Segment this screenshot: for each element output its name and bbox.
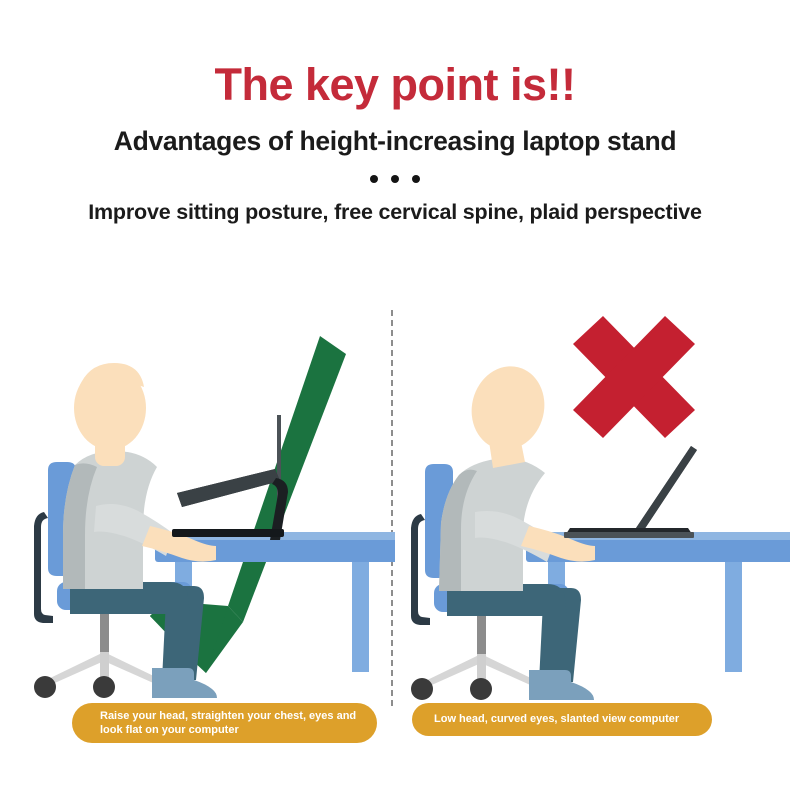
caption-correct-line2: look flat on your computer [100,723,356,737]
comparison-panel-incorrect [395,300,790,720]
chair-wheel-icon [93,676,115,698]
chair-wheel-icon [34,676,56,698]
caption-incorrect-line1: Low head, curved eyes, slanted view comp… [434,712,679,726]
bad-posture-illustration [395,300,790,720]
caption-correct: Raise your head, straighten your chest, … [72,703,377,743]
infographic-root: The key point is!! Advantages of height-… [0,0,790,788]
laptop-stand-base [172,529,284,537]
caption-correct-line1: Raise your head, straighten your chest, … [100,709,356,723]
separator-dot-icon [370,175,378,183]
page-subtitle: Advantages of height-increasing laptop s… [0,128,790,155]
separator-dot-icon [412,175,420,183]
comparison-panel-correct [0,300,395,720]
page-title: The key point is!! [0,62,790,107]
laptop-flat [564,446,697,538]
caption-incorrect: Low head, curved eyes, slanted view comp… [412,703,712,736]
separator-dot-icon [391,175,399,183]
dot-separator [0,172,790,186]
page-tagline: Improve sitting posture, free cervical s… [0,202,790,224]
chair-wheel-icon [470,678,492,700]
cross-mark-icon [573,316,695,438]
chair-wheel-icon [411,678,433,700]
good-posture-illustration [0,300,395,720]
